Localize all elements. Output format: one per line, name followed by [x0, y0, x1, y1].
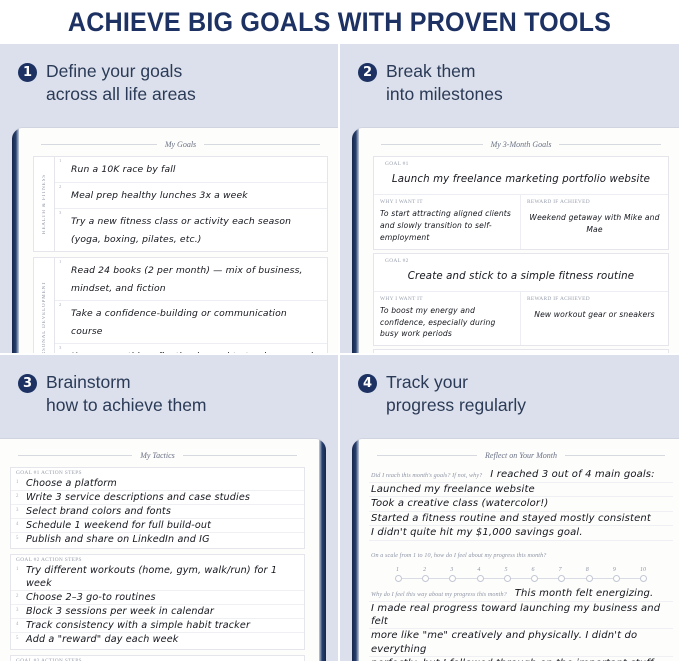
step-text: Block 3 sessions per week in calendar [26, 605, 298, 618]
scale-dot[interactable] [586, 575, 593, 582]
step-index: 2 [16, 594, 18, 599]
step-text: Track consistency with a simple habit tr… [26, 619, 298, 632]
goal-text: Read 24 books (2 per month) — mix of bus… [71, 258, 303, 294]
scale-number: 10 [640, 567, 646, 573]
step-index: 1 [16, 480, 18, 485]
scale-dot[interactable] [558, 575, 565, 582]
step-panel-2: 2 Break them into milestones My 3-Month … [338, 44, 679, 353]
goal-text: Run a 10K race by fall [71, 157, 176, 175]
category-rows: 1 Read 24 books (2 per month) — mix of b… [55, 258, 327, 353]
scale-dot[interactable] [477, 575, 484, 582]
step-index: 4 [16, 622, 18, 627]
goal-meta: Why I want it To boost my energy and con… [374, 292, 668, 345]
goal-row[interactable]: 2 Take a confidence-building or communic… [55, 301, 327, 344]
progress-scale[interactable]: 1 2 3 4 5 6 7 8 9 10 [395, 567, 647, 582]
notebook-page: My Tactics GOAL #1 ACTION STEPS 1Choose … [0, 439, 319, 661]
tactic-step[interactable]: 5Publish and share on LinkedIn and IG [11, 533, 304, 546]
goal-statement: Launch my freelance marketing portfolio … [380, 168, 662, 187]
step-index: 3 [16, 508, 18, 513]
scale-dot[interactable] [640, 575, 647, 582]
tactic-tag: GOAL #1 ACTION STEPS [11, 468, 304, 477]
category-label-text: PERSONAL DEVELOPMENT [42, 281, 47, 353]
worksheet-title-text: My Goals [165, 140, 196, 149]
notebook-reflect: Reflect on Your Month Did I reach this m… [352, 439, 679, 661]
panel-3-heading-line1: Brainstorm [46, 372, 131, 392]
scale-dot[interactable] [395, 575, 402, 582]
answer-text: perfectly, but I followed through on the… [371, 657, 671, 661]
step-number-badge: 1 [18, 63, 37, 82]
scale-number: 6 [532, 567, 535, 573]
goal-index: 3 [59, 345, 61, 350]
step-text: Choose 2–3 go-to routines [26, 591, 298, 604]
goal-category: PERSONAL DEVELOPMENT 1 Read 24 books (2 … [33, 257, 328, 353]
goal-reward: Reward if achieved Weekend getaway with … [521, 195, 668, 248]
worksheet-title: My Tactics [18, 451, 297, 460]
goal-row[interactable]: 1 Run a 10K race by fall [55, 157, 327, 183]
goal-why: Why I want it To boost my energy and con… [374, 292, 521, 345]
answer-text: Started a fitness routine and stayed mos… [371, 512, 671, 525]
scale-numbers: 1 2 3 4 5 6 7 8 9 10 [395, 567, 647, 573]
scale-track [395, 575, 647, 582]
reflect-answer-line[interactable]: I didn't quite hit my $1,000 savings goa… [369, 526, 673, 540]
reflect-question-1: Did I reach this month's goals? If not, … [371, 473, 482, 479]
goal-text: Try a new fitness class or activity each… [71, 209, 291, 245]
goal-index: 1 [59, 158, 61, 163]
reward-text: Weekend getaway with Mike and Mae [527, 206, 662, 236]
tactic-tag: GOAL #3 ACTION STEPS [11, 656, 304, 661]
goal-tag: GOAL #1 [380, 159, 662, 168]
goal-index: 1 [59, 259, 61, 264]
answer-text: I made real progress toward launching my… [371, 602, 671, 629]
notebook-spine [319, 439, 326, 661]
reflect-question-3: Why do I feel this way about my progress… [371, 592, 507, 598]
scale-dot[interactable] [531, 575, 538, 582]
step-text: Select brand colors and fonts [26, 505, 298, 518]
panel-1-header: 1 Define your goals across all life area… [0, 44, 338, 107]
panel-2-header: 2 Break them into milestones [340, 44, 679, 107]
panel-3-header: 3 Brainstorm how to achieve them [0, 355, 338, 418]
reward-label: Reward if achieved [527, 294, 662, 303]
answer-text: I didn't quite hit my $1,000 savings goa… [371, 526, 671, 539]
notebook-spine [352, 439, 359, 661]
reflect-answer-line[interactable]: Took a creative class (watercolor!) [369, 497, 673, 511]
reward-text: New workout gear or sneakers [527, 303, 662, 321]
goal-reward: Reward if achieved New workout gear or s… [521, 292, 668, 345]
step-panel-1: 1 Define your goals across all life area… [0, 44, 338, 353]
panel-4-heading-line1: Track your [386, 372, 468, 392]
goal-main: GOAL #2 Create and stick to a simple fit… [374, 254, 668, 292]
answer-text: Took a creative class (watercolor!) [371, 497, 671, 510]
goal-text: Keep a monthly reflection journal to tra… [71, 344, 313, 353]
scale-dots [395, 575, 647, 582]
step-index: 3 [16, 608, 18, 613]
tactic-step[interactable]: 1Try different workouts (home, gym, walk… [11, 564, 304, 591]
category-label: HEALTH & FITNESS [34, 157, 55, 251]
goal-card[interactable]: GOAL #2 Create and stick to a simple fit… [373, 253, 669, 347]
tactic-step[interactable]: 3Block 3 sessions per week in calendar [11, 605, 304, 619]
scale-number: 3 [450, 567, 453, 573]
scale-dot[interactable] [449, 575, 456, 582]
notebook-my-tactics: My Tactics GOAL #1 ACTION STEPS 1Choose … [0, 439, 326, 661]
notebook-page: My Goals HEALTH & FITNESS 1 Run a 10K ra… [19, 128, 338, 353]
goal-card[interactable]: GOAL #1 Launch my freelance marketing po… [373, 156, 669, 250]
step-panel-4: 4 Track your progress regularly Reflect … [338, 353, 679, 661]
why-text: To boost my energy and confidence, espec… [380, 303, 514, 340]
tactic-block: GOAL #2 ACTION STEPS 1Try different work… [10, 554, 305, 649]
step-text: Write 3 service descriptions and case st… [26, 491, 298, 504]
panel-2-heading-line1: Break them [386, 61, 475, 81]
goal-index: 2 [59, 302, 61, 307]
goal-text: Take a confidence-building or communicat… [71, 301, 287, 337]
worksheet-title-text: Reflect on Your Month [485, 451, 557, 460]
reflect-answer-line[interactable]: perfectly, but I followed through on the… [369, 657, 673, 661]
panel-3-heading-line2: how to achieve them [46, 394, 207, 417]
scale-number: 1 [396, 567, 399, 573]
notebook-page: My 3-Month Goals GOAL #1 Launch my freel… [359, 128, 679, 353]
scale-dot[interactable] [504, 575, 511, 582]
step-number-badge: 2 [358, 63, 377, 82]
why-label: Why I want it [380, 197, 514, 206]
step-number-badge: 3 [18, 374, 37, 393]
tactic-step[interactable]: 4Schedule 1 weekend for full build-out [11, 519, 304, 533]
step-index: 5 [16, 536, 18, 541]
category-label-text: HEALTH & FITNESS [42, 174, 47, 234]
tactic-block: GOAL #3 ACTION STEPS 1 2 [10, 655, 305, 661]
tactic-block: GOAL #1 ACTION STEPS 1Choose a platform … [10, 467, 305, 549]
scale-dot[interactable] [613, 575, 620, 582]
scale-number: 8 [586, 567, 589, 573]
panel-1-heading-line2: across all life areas [46, 83, 196, 106]
notebook-my-goals: My Goals HEALTH & FITNESS 1 Run a 10K ra… [12, 128, 338, 353]
worksheet-title: My 3-Month Goals [381, 140, 661, 149]
goal-row[interactable]: 3 Try a new fitness class or activity ea… [55, 209, 327, 251]
notebook-spine [12, 128, 19, 353]
step-index: 5 [16, 636, 18, 641]
scale-number: 4 [477, 567, 480, 573]
scale-dot[interactable] [422, 575, 429, 582]
goal-tag: GOAL #2 [380, 256, 662, 265]
goal-category: HEALTH & FITNESS 1 Run a 10K race by fal… [33, 156, 328, 252]
tactic-step[interactable]: 2Choose 2–3 go-to routines [11, 591, 304, 605]
reflect-question-1-row[interactable]: Did I reach this month's goals? If not, … [369, 467, 673, 483]
reflect-answer-line[interactable]: Launched my freelance website [369, 483, 673, 497]
step-panel-3: 3 Brainstorm how to achieve them My Tact… [0, 353, 338, 661]
goal-meta: Why I want it To start attracting aligne… [374, 195, 668, 248]
why-label: Why I want it [380, 294, 514, 303]
panel-3-heading: Brainstorm how to achieve them [46, 371, 207, 418]
panel-1-heading: Define your goals across all life areas [46, 60, 196, 107]
tactic-step[interactable]: 5Add a "reward" day each week [11, 633, 304, 646]
tactic-tag: GOAL #2 ACTION STEPS [11, 555, 304, 564]
reflect-question-3-row[interactable]: Why do I feel this way about my progress… [369, 586, 673, 602]
worksheet-title-text: My 3-Month Goals [491, 140, 552, 149]
scale-number: 7 [559, 567, 562, 573]
tactic-step[interactable]: 2Write 3 service descriptions and case s… [11, 491, 304, 505]
reflect-answer-line[interactable]: I made real progress toward launching my… [369, 602, 673, 630]
scale-number: 5 [504, 567, 507, 573]
goal-main: GOAL #1 Launch my freelance marketing po… [374, 157, 668, 195]
worksheet-title: My Goals [41, 140, 320, 149]
step-index: 1 [16, 567, 18, 572]
goal-row[interactable]: 1 Read 24 books (2 per month) — mix of b… [55, 258, 327, 301]
goal-index: 3 [59, 210, 61, 215]
worksheet-title-text: My Tactics [140, 451, 175, 460]
goal-row[interactable]: 3 Keep a monthly reflection journal to t… [55, 344, 327, 353]
reflect-answer-line[interactable]: Started a fitness routine and stayed mos… [369, 512, 673, 526]
reflect-question-2: On a scale from 1 to 10, how do I feel a… [371, 553, 546, 559]
panel-4-header: 4 Track your progress regularly [340, 355, 679, 418]
goal-why: Why I want it To start attracting aligne… [374, 195, 521, 248]
step-text: Publish and share on LinkedIn and IG [26, 533, 298, 546]
step-index: 2 [16, 494, 18, 499]
category-rows: 1 Run a 10K race by fall 2 Meal prep hea… [55, 157, 327, 251]
reflect-answer-line[interactable]: more like "me" creatively and physically… [369, 629, 673, 657]
scale-number: 9 [613, 567, 616, 573]
panel-1-heading-line1: Define your goals [46, 61, 182, 81]
goal-index: 2 [59, 184, 61, 189]
step-text: Schedule 1 weekend for full build-out [26, 519, 298, 532]
reflect-answer-3-first: This month felt energizing. [515, 586, 654, 601]
goal-row[interactable]: 2 Meal prep healthy lunches 3x a week [55, 183, 327, 209]
step-text: Add a "reward" day each week [26, 633, 298, 646]
tactic-step[interactable]: 4Track consistency with a simple habit t… [11, 619, 304, 633]
panel-2-heading-line2: into milestones [386, 83, 503, 106]
category-label: PERSONAL DEVELOPMENT [34, 258, 55, 353]
step-number-badge: 4 [358, 374, 377, 393]
reflect-answer-1-first: I reached 3 out of 4 main goals: [490, 467, 654, 482]
step-text: Try different workouts (home, gym, walk/… [26, 564, 298, 590]
step-text: Choose a platform [26, 477, 298, 490]
step-index: 4 [16, 522, 18, 527]
reward-label: Reward if achieved [527, 197, 662, 206]
panel-4-heading: Track your progress regularly [386, 371, 526, 418]
scale-number: 2 [423, 567, 426, 573]
tactic-step[interactable]: 3Select brand colors and fonts [11, 505, 304, 519]
answer-text: Launched my freelance website [371, 483, 671, 496]
answer-text: more like "me" creatively and physically… [371, 629, 671, 656]
panel-2-heading: Break them into milestones [386, 60, 503, 107]
page-title: ACHIEVE BIG GOALS WITH PROVEN TOOLS [24, 0, 655, 44]
worksheet-title: Reflect on Your Month [377, 451, 665, 460]
goal-statement: Create and stick to a simple fitness rou… [380, 265, 662, 284]
tactic-step[interactable]: 1Choose a platform [11, 477, 304, 491]
why-text: To start attracting aligned clients and … [380, 206, 514, 243]
notebook-3-month-goals: My 3-Month Goals GOAL #1 Launch my freel… [352, 128, 679, 353]
steps-grid: 1 Define your goals across all life area… [0, 44, 679, 661]
panel-4-heading-line2: progress regularly [386, 394, 526, 417]
goal-text: Meal prep healthy lunches 3x a week [71, 183, 248, 201]
notebook-page: Reflect on Your Month Did I reach this m… [359, 439, 679, 661]
notebook-spine [352, 128, 359, 353]
